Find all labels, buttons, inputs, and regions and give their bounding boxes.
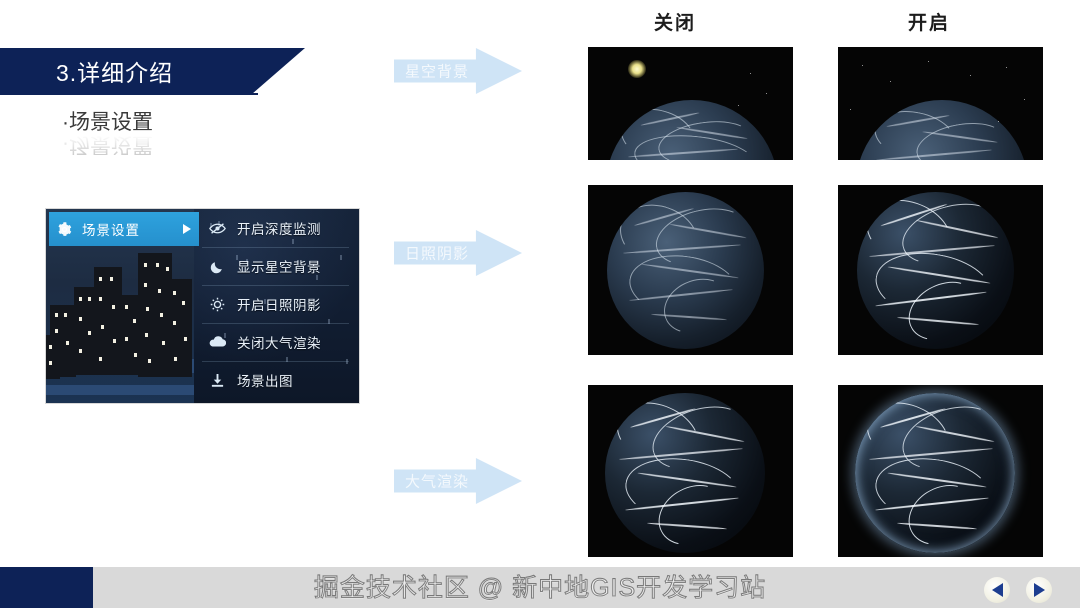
subtitle: ·场景设置 [62, 112, 302, 133]
menu-item-export-scene[interactable]: 场景出图 [194, 361, 359, 399]
eye-slash-icon [206, 218, 228, 238]
menu-item-label: 关闭大气渲染 [237, 332, 321, 352]
tile-atmosphere-on [838, 385, 1043, 557]
arrow-atmosphere-render: 大气渲染 [394, 457, 522, 505]
sun-glow [628, 60, 646, 78]
download-icon [206, 370, 228, 390]
subtitle-group: ·场景设置 ·场景设置 [62, 112, 302, 164]
globe [857, 192, 1014, 349]
chevron-right-icon [183, 224, 191, 234]
globe [856, 100, 1028, 160]
arrow-label: 大气渲染 [398, 471, 476, 492]
subtitle-reflection: ·场景设置 [62, 134, 302, 155]
menu-panel: 开启深度监测 显示星空背景 开启日照阴影 [194, 209, 359, 403]
menu-item-depth-detection[interactable]: 开启深度监测 [194, 209, 359, 247]
gear-icon [57, 222, 72, 237]
globe [607, 192, 764, 349]
tile-star-background-off [588, 47, 793, 160]
scene-settings-label: 场景设置 [82, 219, 140, 239]
globe [606, 100, 778, 160]
page-title: 3.详细介绍 [56, 54, 173, 88]
arrow-sun-shadow: 日照阴影 [394, 229, 522, 277]
menu-item-sun-shadow[interactable]: 开启日照阴影 [194, 285, 359, 323]
sun-icon [206, 294, 228, 314]
tile-star-background-on [838, 47, 1043, 160]
menu-item-label: 开启日照阴影 [237, 294, 321, 314]
arrow-star-background: 星空背景 [394, 47, 522, 95]
moon-icon [206, 256, 228, 276]
menu-item-list[interactable]: 开启深度监测 显示星空背景 开启日照阴影 [194, 209, 359, 399]
menu-item-label: 开启深度监测 [237, 218, 321, 238]
tile-sun-shadow-on [838, 185, 1043, 355]
arrow-right-icon [1034, 583, 1045, 597]
menu-item-scene-settings[interactable]: 场景设置 [49, 212, 199, 246]
arrow-left-icon [992, 583, 1003, 597]
scene-settings-menu-screenshot: 开启深度监测 显示星空背景 开启日照阴影 [45, 208, 360, 404]
footer-bar [0, 567, 1080, 608]
menu-item-star-background[interactable]: 显示星空背景 [194, 247, 359, 285]
slide-title-banner: 3.详细介绍 [0, 48, 305, 93]
cloud-icon [206, 332, 228, 352]
footer-accent-block [0, 567, 93, 608]
next-slide-button[interactable] [1026, 577, 1052, 603]
column-header-on: 开启 [908, 8, 950, 35]
menu-item-atmosphere-render[interactable]: 关闭大气渲染 [194, 323, 359, 361]
menu-item-label: 显示星空背景 [237, 256, 321, 276]
tile-atmosphere-off [588, 385, 793, 557]
globe [855, 393, 1015, 553]
menu-item-label: 场景出图 [237, 370, 293, 390]
title-underline [0, 93, 258, 95]
column-header-off: 关闭 [654, 8, 696, 35]
tile-sun-shadow-off [588, 185, 793, 355]
arrow-label: 星空背景 [398, 61, 476, 82]
prev-slide-button[interactable] [984, 577, 1010, 603]
globe [605, 393, 765, 553]
arrow-label: 日照阴影 [398, 243, 476, 264]
